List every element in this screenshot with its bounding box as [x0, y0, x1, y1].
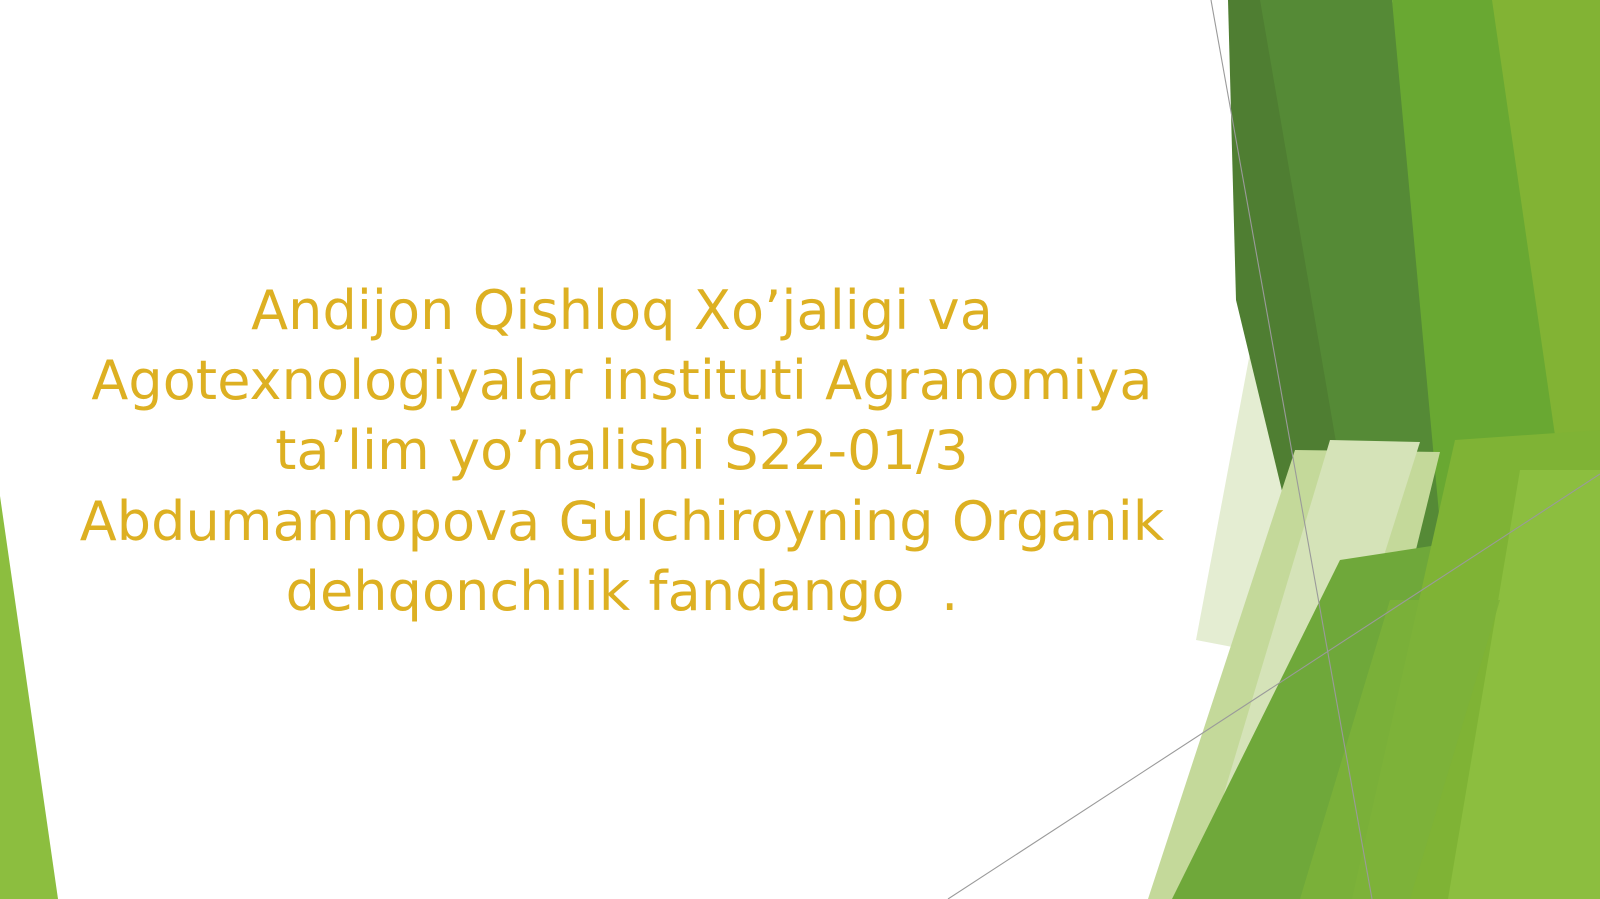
- right-green-band: [1392, 0, 1560, 612]
- right-base-bright-green: [1208, 0, 1600, 899]
- slide-canvas: Andijon Qishloq Xo’jaligi va Agotexnolog…: [0, 0, 1600, 899]
- highlight-triangle: [1300, 600, 1500, 899]
- lower-green-wedge: [1172, 540, 1470, 899]
- paler-green-sliver: [1222, 440, 1420, 820]
- page-title: Andijon Qishloq Xo’jaligi va Agotexnolog…: [42, 276, 1202, 627]
- lower-right-strong-green: [1352, 430, 1600, 899]
- dark-green-top-wedge: [1228, 0, 1468, 690]
- slide-title-block: Andijon Qishloq Xo’jaligi va Agotexnolog…: [42, 276, 1202, 627]
- mid-green-overlay: [1260, 0, 1472, 640]
- hairline-upper-diagonal: [1211, 0, 1372, 899]
- lime-corner: [1448, 470, 1600, 899]
- pale-shard-upper: [1196, 236, 1350, 660]
